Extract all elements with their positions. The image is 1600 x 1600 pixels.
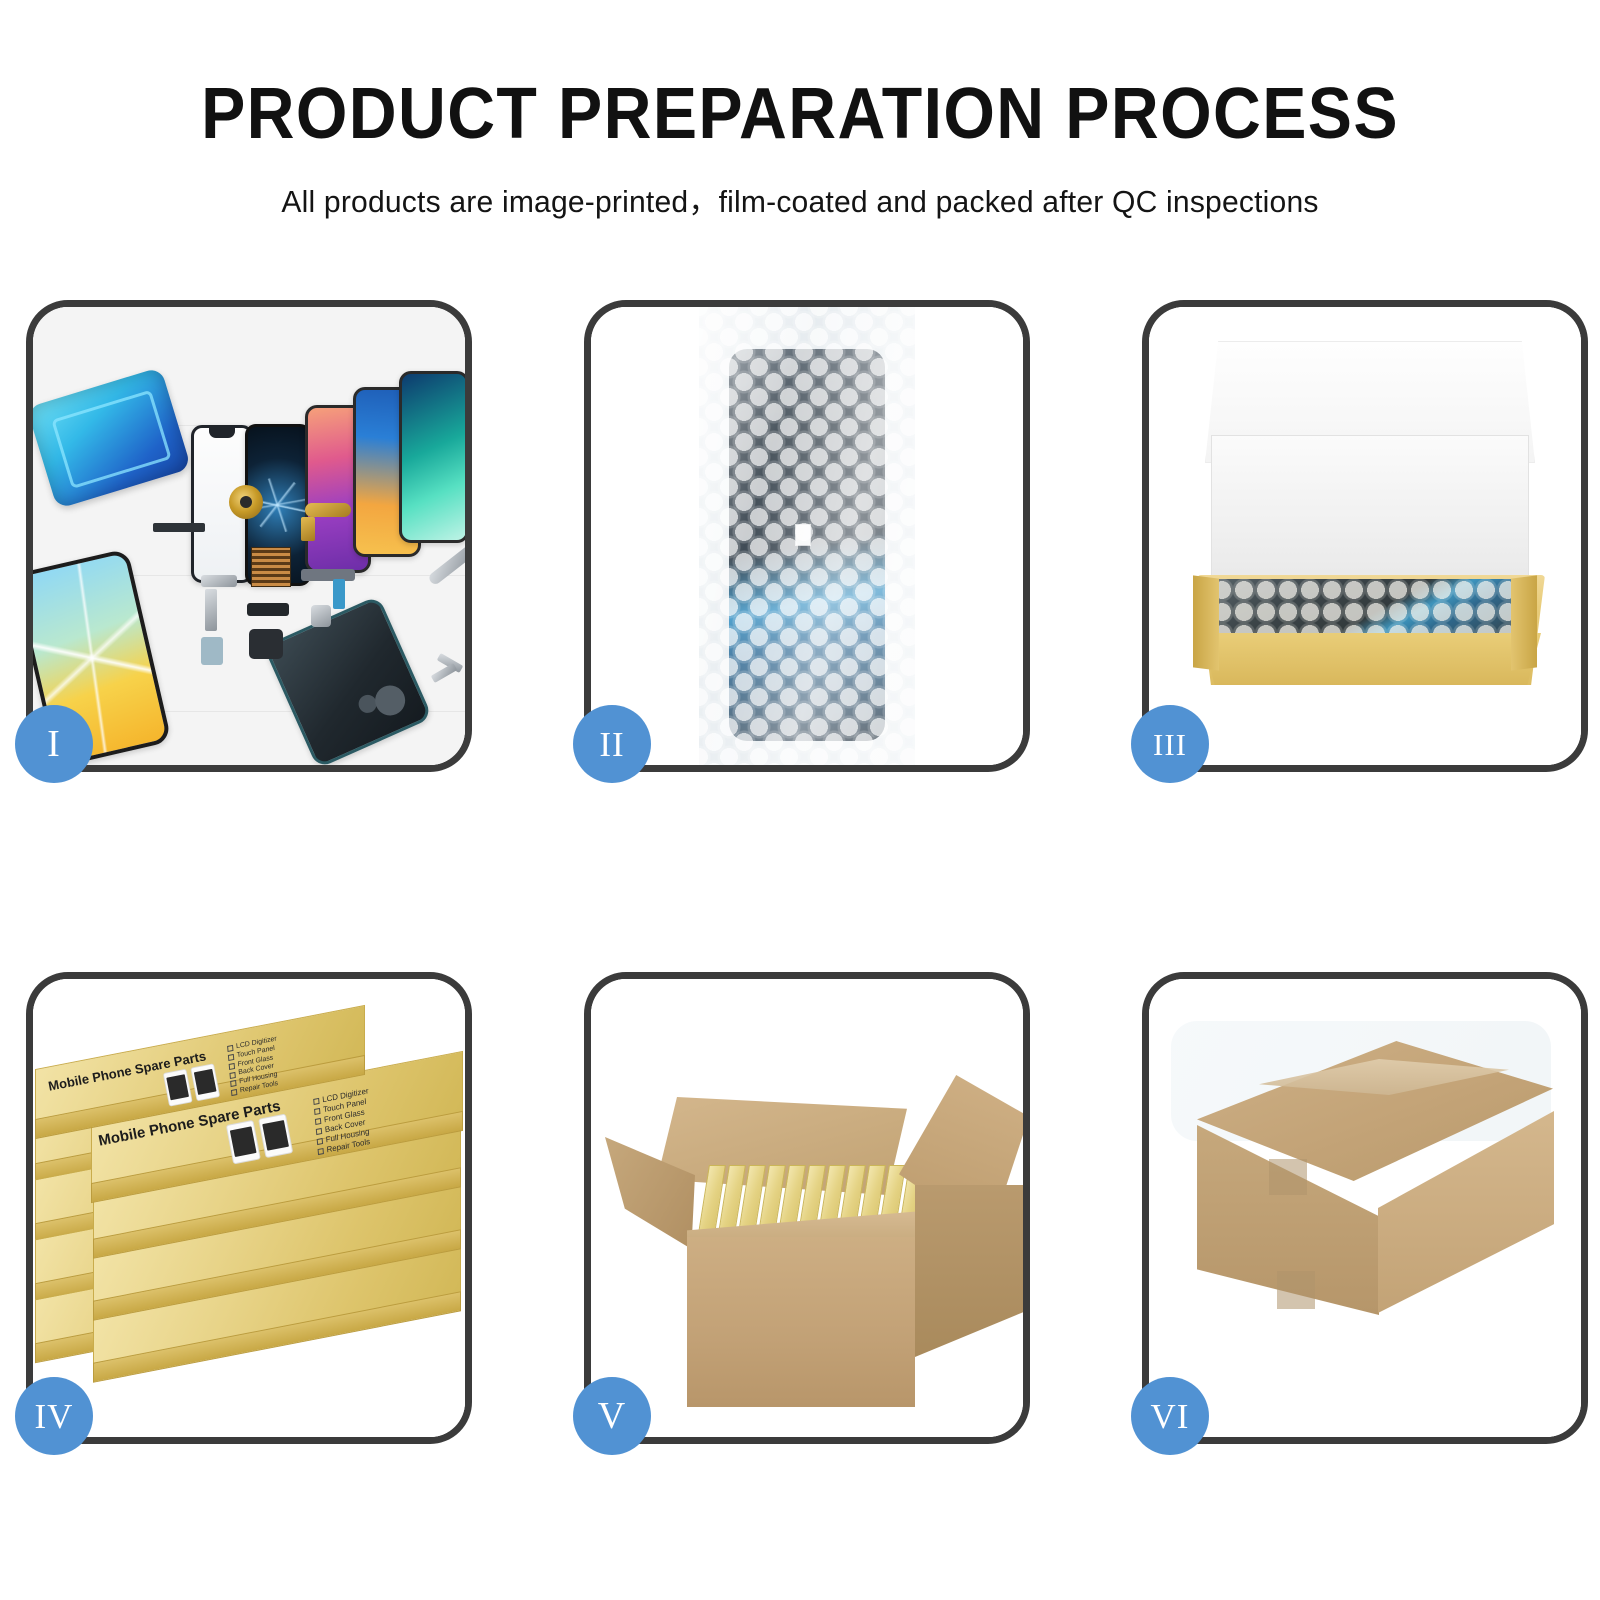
step-numeral-5: V bbox=[598, 1397, 626, 1435]
step-numeral-3: III bbox=[1153, 729, 1187, 760]
process-step-panel-2[interactable]: II bbox=[584, 300, 1030, 772]
step-6-image bbox=[1149, 979, 1581, 1437]
step-badge-5: V bbox=[573, 1377, 651, 1455]
vibrator-motor-part bbox=[247, 603, 289, 616]
checkbox-icon bbox=[315, 1118, 321, 1125]
checkbox-icon bbox=[316, 1128, 322, 1135]
plastic-sheen bbox=[699, 307, 915, 765]
carton-tape-patch-bottom bbox=[1277, 1271, 1315, 1309]
step-numeral-6: VI bbox=[1151, 1399, 1190, 1434]
step-numeral-2: II bbox=[599, 727, 624, 762]
step-1-image bbox=[33, 307, 465, 765]
phone-parts-collage-illustration bbox=[33, 307, 465, 765]
open-mailer-box-illustration bbox=[1149, 307, 1581, 765]
step-badge-1: I bbox=[15, 705, 93, 783]
checkbox-icon bbox=[227, 1045, 233, 1052]
mailer-box-front-wall bbox=[1201, 633, 1541, 685]
page-subtitle: All products are image-printed，film-coat… bbox=[24, 176, 1576, 221]
screwdriver-tool-2 bbox=[431, 663, 458, 683]
wireless-charging-coil bbox=[229, 485, 263, 519]
step-badge-6: VI bbox=[1131, 1377, 1209, 1455]
flex-cable-tail bbox=[301, 517, 315, 541]
bubble-texture-in-box bbox=[1211, 579, 1529, 641]
bubble-wrap-illustration bbox=[591, 307, 1023, 765]
small-connector-part bbox=[201, 575, 237, 587]
checkbox-icon bbox=[317, 1138, 323, 1145]
product-photo-thumb bbox=[163, 1069, 193, 1107]
bubble-wrap-bag bbox=[699, 307, 915, 765]
step-badge-3: III bbox=[1131, 705, 1209, 783]
header: PRODUCT PREPARATION PROCESS All products… bbox=[0, 78, 1600, 221]
step-4-image: Mobile Phone Spare Parts LCD Digitizer T… bbox=[33, 979, 465, 1437]
step-2-image bbox=[591, 307, 1023, 765]
camera-module-part bbox=[311, 605, 331, 627]
earpiece-speaker-part bbox=[153, 523, 205, 532]
sim-tray-part bbox=[201, 637, 223, 665]
carton-side-panel bbox=[915, 1185, 1023, 1357]
checkbox-icon bbox=[314, 1108, 320, 1115]
power-button-flex bbox=[301, 569, 355, 581]
checkbox-icon bbox=[318, 1148, 324, 1155]
checkbox-icon bbox=[231, 1089, 237, 1096]
step-numeral-1: I bbox=[47, 725, 61, 763]
mailer-flap-left bbox=[1193, 575, 1219, 670]
step-5-image bbox=[591, 979, 1023, 1437]
process-step-grid: I II bbox=[26, 300, 1588, 1444]
step-badge-2: II bbox=[573, 705, 651, 783]
ic-chip-part bbox=[251, 547, 291, 587]
process-step-panel-1[interactable]: I bbox=[26, 300, 472, 772]
checkbox-icon bbox=[229, 1063, 235, 1070]
volume-flex-part bbox=[205, 589, 217, 631]
stacked-retail-boxes-illustration: Mobile Phone Spare Parts LCD Digitizer T… bbox=[33, 979, 465, 1437]
step-3-image bbox=[1149, 307, 1581, 765]
sealed-carton-illustration bbox=[1149, 979, 1581, 1437]
mailer-flap-right bbox=[1511, 575, 1537, 670]
wrapped-part-in-box bbox=[1211, 579, 1529, 641]
repair-tool-tweezer bbox=[427, 544, 465, 587]
open-carton-illustration bbox=[591, 979, 1023, 1437]
carton-front-panel bbox=[687, 1237, 915, 1407]
process-step-panel-4[interactable]: Mobile Phone Spare Parts LCD Digitizer T… bbox=[26, 972, 472, 1444]
checkbox-icon bbox=[230, 1080, 236, 1087]
process-step-panel-6[interactable]: VI bbox=[1142, 972, 1588, 1444]
process-step-panel-3[interactable]: III bbox=[1142, 300, 1588, 772]
checkbox-icon bbox=[229, 1072, 235, 1079]
phone-screen-teal bbox=[399, 371, 465, 543]
checkbox-icon bbox=[228, 1054, 234, 1061]
process-step-panel-5[interactable]: V bbox=[584, 972, 1030, 1444]
step-badge-4: IV bbox=[15, 1377, 93, 1455]
phone-back-housing bbox=[263, 595, 433, 765]
step-numeral-4: IV bbox=[35, 1399, 74, 1434]
retail-box-checklist-1: LCD Digitizer Touch Panel Front Glass Ba… bbox=[227, 1035, 281, 1097]
flex-cable-gold bbox=[305, 503, 351, 517]
antenna-flex-part bbox=[333, 579, 345, 609]
page-title: PRODUCT PREPARATION PROCESS bbox=[64, 78, 1536, 150]
carton-tape-patch-top bbox=[1269, 1159, 1307, 1195]
adhesive-frame-part bbox=[33, 367, 191, 509]
foam-insert bbox=[1211, 435, 1529, 590]
infographic-page: PRODUCT PREPARATION PROCESS All products… bbox=[0, 0, 1600, 1600]
loudspeaker-part bbox=[249, 629, 283, 659]
